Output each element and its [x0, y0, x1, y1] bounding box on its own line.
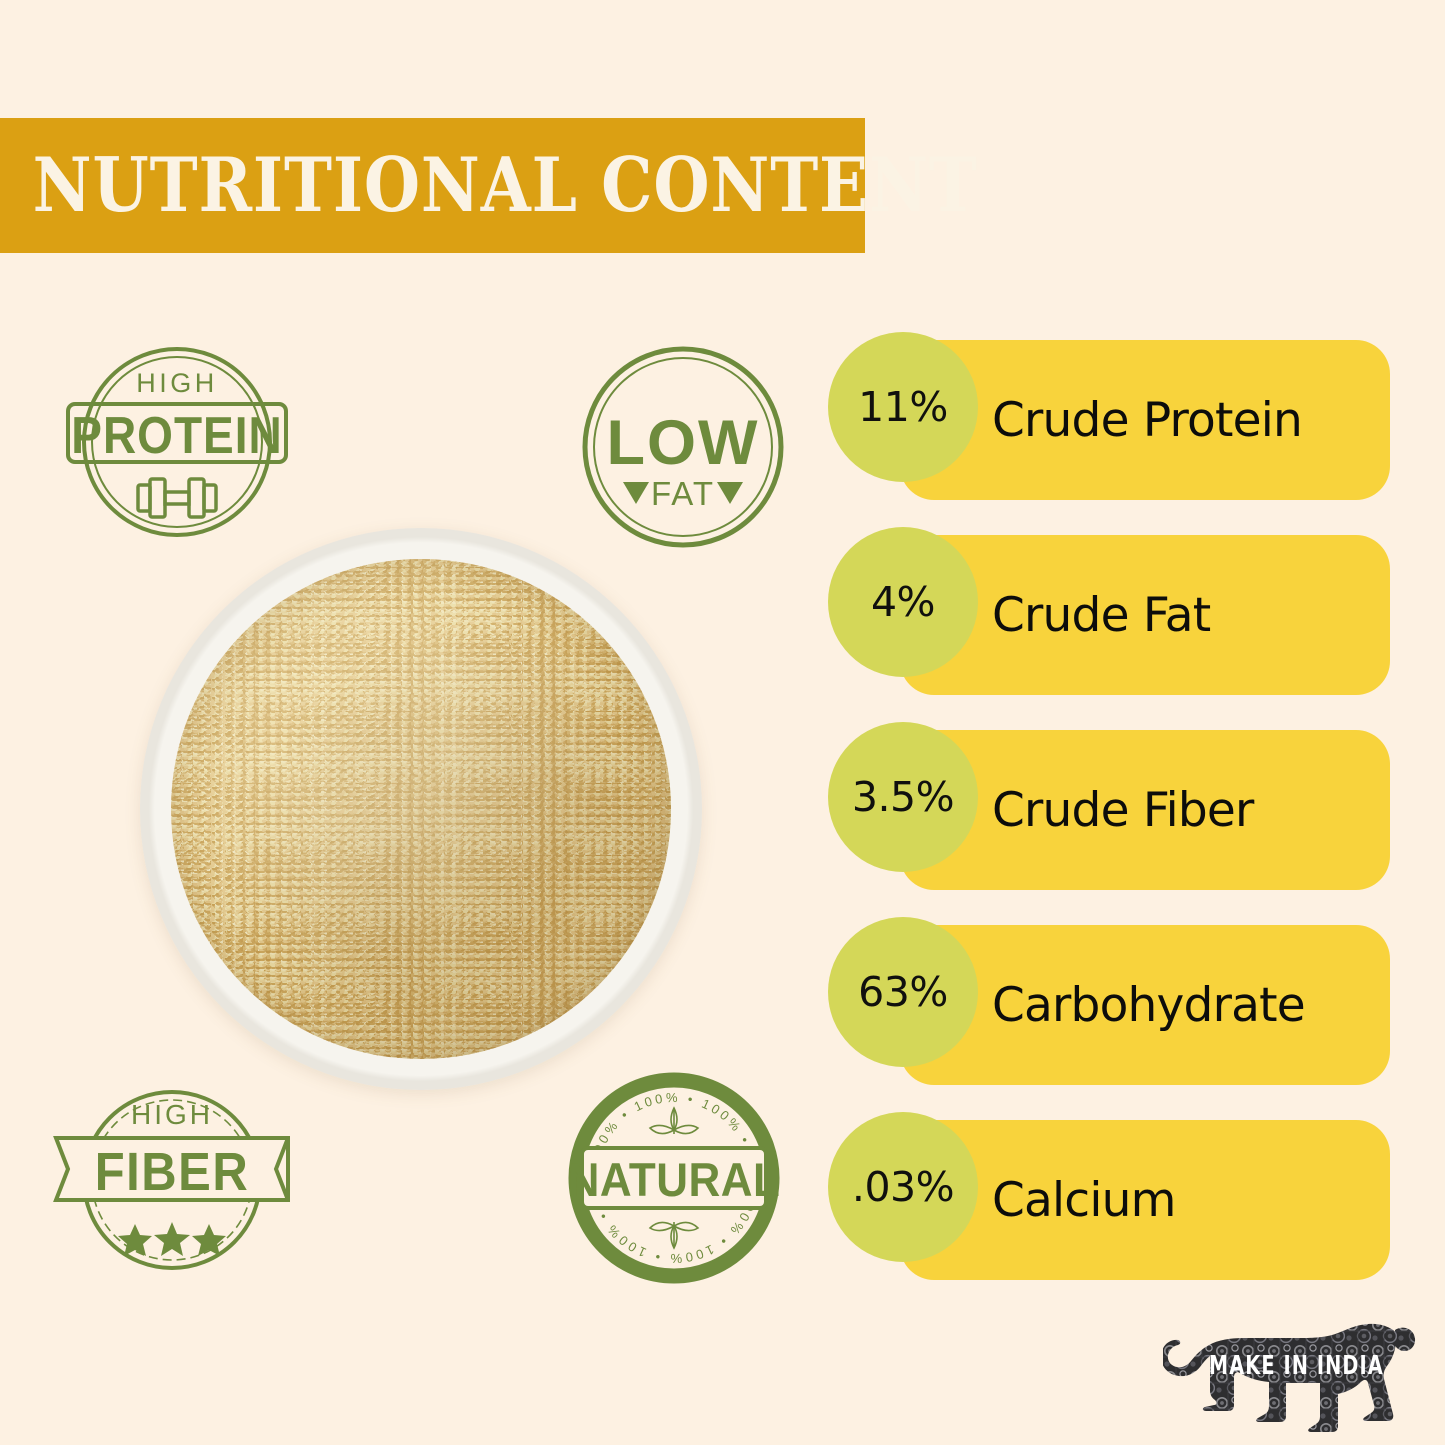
nutrient-value: .03% [852, 1163, 954, 1211]
nutrient-row-crude-fat: 4% Crude Fat [900, 535, 1390, 695]
nutrient-value-circle: 4% [828, 527, 978, 677]
nutrient-label: Crude Fiber [992, 730, 1254, 890]
nutrient-value: 63% [858, 968, 948, 1016]
nutrition-list: 11% Crude Protein 4% Crude Fat 3.5% Crud… [0, 0, 1445, 1445]
nutrient-row-calcium: .03% Calcium [900, 1120, 1390, 1280]
nutrient-value-circle: 63% [828, 917, 978, 1067]
make-in-india-label: MAKE IN INDIA [1209, 1352, 1384, 1381]
nutrient-label: Calcium [992, 1120, 1176, 1280]
nutrient-value-circle: 11% [828, 332, 978, 482]
nutrient-label: Crude Protein [992, 340, 1302, 500]
nutrient-value: 4% [871, 578, 935, 626]
nutrient-label: Crude Fat [992, 535, 1210, 695]
nutrient-row-crude-protein: 11% Crude Protein [900, 340, 1390, 500]
infographic-page: NUTRITIONAL CONTENT HIGH PROTEIN [0, 0, 1445, 1445]
nutrient-value: 11% [858, 383, 948, 431]
nutrient-value-circle: .03% [828, 1112, 978, 1262]
make-in-india-lion-logo: MAKE IN INDIA [1163, 1318, 1431, 1438]
nutrient-row-crude-fiber: 3.5% Crude Fiber [900, 730, 1390, 890]
nutrient-value: 3.5% [852, 773, 954, 821]
nutrient-label: Carbohydrate [992, 925, 1305, 1085]
nutrient-row-carbohydrate: 63% Carbohydrate [900, 925, 1390, 1085]
nutrient-value-circle: 3.5% [828, 722, 978, 872]
